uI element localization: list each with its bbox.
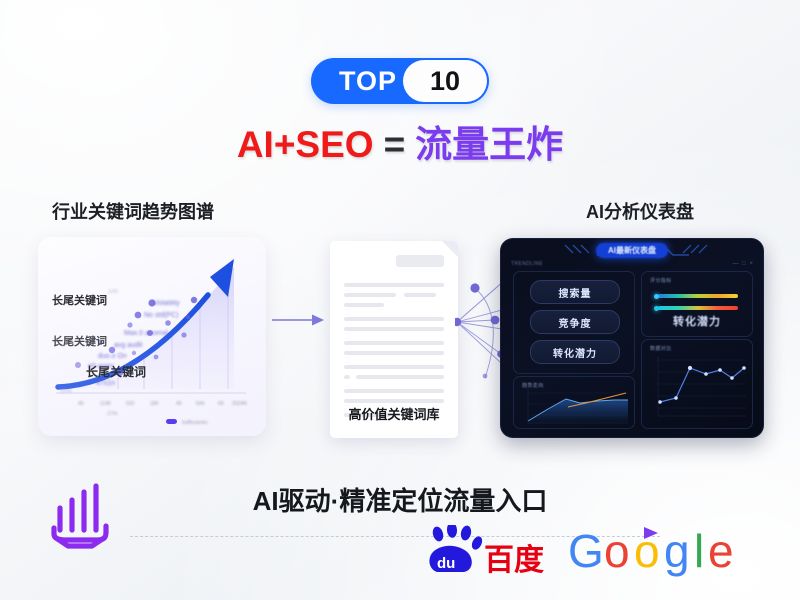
- metric-pills-panel: 搜索量 竞争度 转化潜力: [513, 271, 635, 374]
- metric-pill-competition[interactable]: 竞争度: [530, 310, 620, 334]
- left-section-caption: 行业关键词趋势图谱: [52, 198, 214, 224]
- trend-keyword-label-1: 长尾关键词: [52, 293, 107, 307]
- trend-area-panel: 趋势走向: [513, 376, 635, 429]
- svg-text:47s1n: 47s1n: [96, 380, 115, 387]
- gauge-panel-title: 评分指标: [650, 277, 672, 284]
- svg-text:49: 49: [176, 401, 182, 407]
- headline-left: AI+SEO: [237, 124, 374, 165]
- svg-text:1145: 1145: [100, 401, 111, 407]
- svg-text:49: 49: [78, 401, 84, 407]
- svg-text:l: l: [694, 525, 704, 577]
- doc-header-block: [396, 255, 444, 267]
- top-badge-number-pill: 10: [403, 60, 487, 102]
- document-caption: 高价值关键词库: [330, 404, 458, 423]
- gauge-overlay-label: 转化潜力: [642, 313, 752, 329]
- infographic-stage: TOP 10 AI+SEO=流量王炸 行业关键词趋势图谱 AI分析仪表盘: [0, 0, 800, 600]
- line-chart-svg: [642, 340, 752, 428]
- baidu-logo: du 百度: [424, 525, 564, 583]
- area-chart-svg: [514, 377, 634, 428]
- top-rank-badge: TOP 10: [311, 58, 489, 104]
- right-section-caption: AI分析仪表盘: [586, 198, 694, 224]
- svg-text:2024N: 2024N: [232, 401, 247, 407]
- svg-text:avg audit: avg audit: [114, 342, 142, 349]
- svg-text:G: G: [568, 525, 604, 577]
- svg-text:Volatility: Volatility: [154, 300, 180, 307]
- headline-equals: =: [384, 124, 406, 165]
- trend-chart-svg: Volatility No std(PC) Max.0 anomal avg a…: [38, 237, 266, 436]
- svg-text:No std(PC): No std(PC): [144, 312, 179, 319]
- svg-text:184: 184: [150, 401, 159, 407]
- top-badge-number: 10: [430, 68, 460, 95]
- dashboard-brand-label: TRENDLINE: [511, 261, 543, 267]
- svg-text:duo.o On: duo.o On: [98, 353, 127, 360]
- svg-text:100: 100: [108, 289, 119, 295]
- baidu-mark-text: du: [437, 555, 455, 572]
- svg-text:032: 032: [126, 401, 135, 407]
- trend-keyword-label-2: 长尾关键词: [52, 334, 107, 348]
- flow-arrow-icon: [272, 313, 324, 327]
- score-gauge-panel: 评分指标 转化潜力: [641, 271, 753, 337]
- ai-dashboard-card: AI最新仪表盘 TRENDLINE — □ × 搜索量 竞争度 转化潜力 趋势走…: [500, 238, 764, 438]
- svg-text:Max.0 anomal: Max.0 anomal: [124, 330, 168, 337]
- page-fold-icon: [442, 241, 458, 257]
- trend-keyword-label-3: 长尾关键词: [86, 364, 146, 379]
- headline-right: 流量王炸: [415, 124, 563, 165]
- metric-pill-search-volume[interactable]: 搜索量: [530, 280, 620, 304]
- top-badge-label: TOP: [339, 68, 397, 95]
- bar-chart-icon: [44, 478, 122, 552]
- google-logo: G o o g l e: [568, 525, 748, 579]
- svg-text:g: g: [664, 525, 690, 577]
- svg-text:69: 69: [218, 401, 224, 407]
- dashboard-title: AI最新仪表盘: [596, 243, 668, 258]
- svg-text:544: 544: [196, 401, 205, 407]
- svg-text:trafficseries: trafficseries: [182, 420, 208, 426]
- window-controls: — □ ×: [733, 261, 754, 267]
- metric-pill-conversion[interactable]: 转化潜力: [530, 340, 620, 364]
- keyword-trend-card: Volatility No std(PC) Max.0 anomal avg a…: [38, 237, 266, 436]
- svg-text:o: o: [604, 525, 630, 577]
- baidu-wordmark: 百度: [484, 544, 544, 577]
- svg-text:-17m: -17m: [106, 411, 117, 417]
- page-title: AI+SEO=流量王炸: [0, 126, 800, 163]
- svg-text:e: e: [708, 525, 734, 577]
- svg-text:20%: 20%: [60, 389, 73, 395]
- comparison-line-panel: 数据对比: [641, 339, 753, 429]
